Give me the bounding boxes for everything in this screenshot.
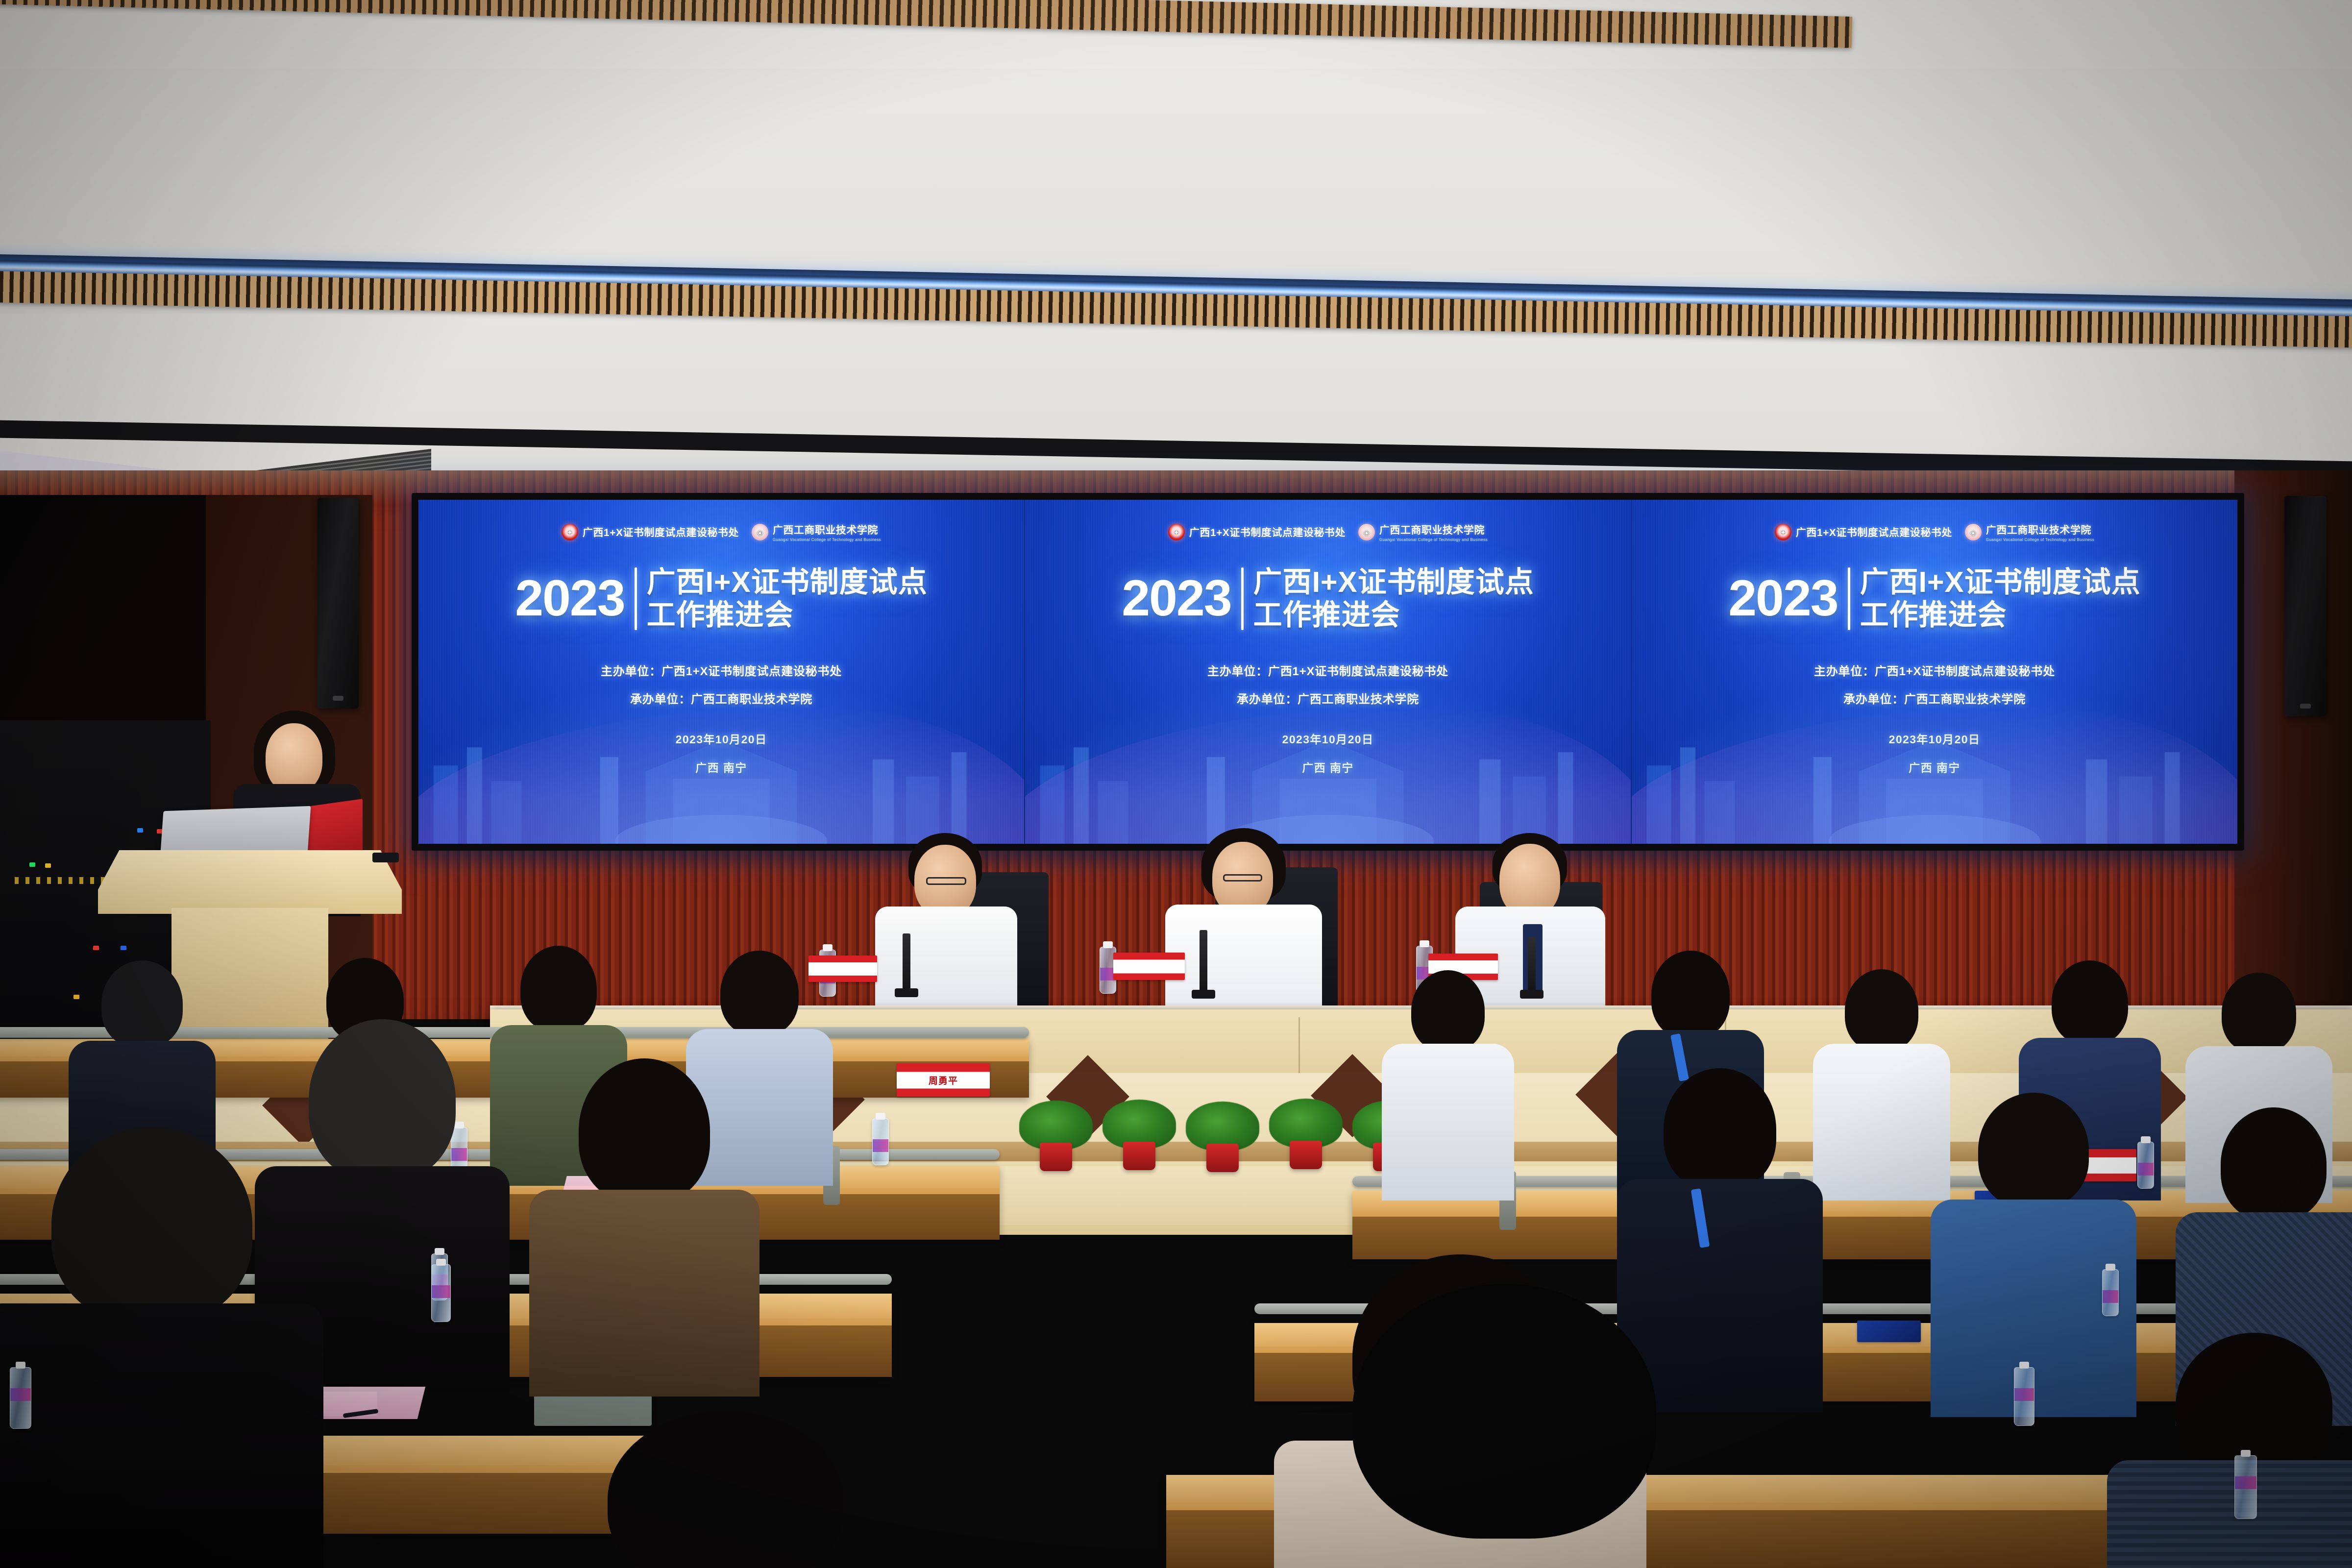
secretariat-emblem-icon: ✦ bbox=[1775, 524, 1791, 540]
panel-year: 2023 bbox=[1728, 576, 1837, 621]
panel-title-line2: 工作推进会 bbox=[1253, 601, 1534, 630]
wall-speaker-left bbox=[318, 498, 359, 709]
logo-group-college: ◈ 广西工商职业技术学院Guangxi Vocational College o… bbox=[1358, 522, 1488, 542]
panel-title-block: 广西I+X证书制度试点 工作推进会 bbox=[647, 568, 928, 630]
attendee-head bbox=[2221, 1107, 2327, 1221]
audience-member bbox=[1382, 970, 1514, 1200]
attendee-head bbox=[51, 1127, 252, 1323]
audience-water-bottle bbox=[2014, 1367, 2034, 1426]
logo-primary-text: 广西1+X证书制度试点建设秘书处 bbox=[583, 525, 739, 539]
panel-title-line1: 广西I+X证书制度试点 bbox=[1253, 568, 1534, 597]
panel-headline: 2023 广西I+X证书制度试点 工作推进会 bbox=[418, 567, 1024, 630]
panel-title-line1: 广西I+X证书制度试点 bbox=[647, 568, 928, 597]
college-emblem-icon: ◈ bbox=[752, 524, 768, 540]
head-table-name-card bbox=[1113, 953, 1185, 980]
stage-potted-plant bbox=[1186, 1108, 1259, 1172]
logo-group-secretariat: ✦ 广西1+X证书制度试点建设秘书处 bbox=[562, 524, 739, 540]
panel-location: 广西 南宁 bbox=[418, 759, 1024, 775]
attendee-head bbox=[1845, 969, 1918, 1052]
conference-hall-photo: ✦ 广西1+X证书制度试点建设秘书处 ◈ 广西工商职业技术学院Guangxi V… bbox=[0, 0, 2352, 1568]
panel-title-line1: 广西I+X证书制度试点 bbox=[1860, 568, 2141, 597]
audience-member bbox=[1813, 969, 1950, 1200]
logo-secondary-en: Guangxi Vocational College of Technology… bbox=[1379, 538, 1488, 542]
panel-location: 广西 南宁 bbox=[1632, 759, 2237, 775]
attendee-head bbox=[1651, 951, 1730, 1039]
college-emblem-icon: ◈ bbox=[1965, 524, 1982, 540]
headline-divider bbox=[1241, 567, 1244, 630]
secretariat-emblem-icon: ✦ bbox=[1168, 524, 1185, 540]
logo-primary-text: 广西1+X证书制度试点建设秘书处 bbox=[1796, 525, 1952, 539]
panel-date: 2023年10月20日 bbox=[418, 730, 1024, 747]
secretariat-emblem-icon: ✦ bbox=[562, 524, 578, 540]
speaker-cone-icon bbox=[333, 696, 343, 701]
stage-potted-plant bbox=[1019, 1107, 1093, 1171]
panelist-microphone-right bbox=[1528, 937, 1536, 999]
audience-water-bottle bbox=[2102, 1269, 2119, 1316]
logo-primary-text: 广西1+X证书制度试点建设秘书处 bbox=[1189, 525, 1346, 539]
panel-headline: 2023 广西I+X证书制度试点 工作推进会 bbox=[1025, 567, 1631, 630]
attendee-body bbox=[1382, 1044, 1514, 1200]
headline-divider bbox=[635, 567, 637, 630]
college-emblem-icon: ◈ bbox=[1358, 524, 1375, 540]
audience-blue-folder bbox=[1857, 1321, 1921, 1342]
logo-group-college: ◈ 广西工商职业技术学院Guangxi Vocational College o… bbox=[1965, 522, 2094, 542]
attendee-head bbox=[520, 946, 597, 1032]
led-panel-3: ✦ 广西1+X证书制度试点建设秘书处 ◈ 广西工商职业技术学院Guangxi V… bbox=[1632, 500, 2237, 844]
panel-host-label: 主办单位：广西1+X证书制度试点建设秘书处 bbox=[1025, 661, 1631, 679]
audience-water-bottle bbox=[2234, 1455, 2257, 1519]
wall-speaker-right bbox=[2284, 496, 2327, 716]
audience-water-bottle bbox=[431, 1264, 451, 1322]
attendee-body bbox=[2107, 1460, 2352, 1568]
panelist-microphone-left bbox=[903, 933, 910, 997]
audience-water-bottle bbox=[872, 1118, 889, 1165]
panel-meta-block: 主办单位：广西1+X证书制度试点建设秘书处 承办单位：广西工商职业技术学院 20… bbox=[1025, 661, 1631, 775]
panel-meta-block: 主办单位：广西1+X证书制度试点建设秘书处 承办单位：广西工商职业技术学院 20… bbox=[418, 661, 1024, 775]
led-screen-surface: ✦ 广西1+X证书制度试点建设秘书处 ◈ 广西工商职业技术学院Guangxi V… bbox=[418, 500, 2237, 844]
attendee-head bbox=[720, 951, 799, 1036]
panel-organizer-label: 承办单位：广西工商职业技术学院 bbox=[1025, 689, 1631, 707]
logo-group-secretariat: ✦ 广西1+X证书制度试点建设秘书处 bbox=[1775, 524, 1952, 540]
panel-title-line2: 工作推进会 bbox=[1860, 601, 2141, 630]
panel-year: 2023 bbox=[515, 576, 624, 621]
panel-title-block: 广西I+X证书制度试点 工作推进会 bbox=[1860, 568, 2141, 630]
attendee-head bbox=[309, 1019, 456, 1181]
panel-logo-row: ✦ 广西1+X证书制度试点建设秘书处 ◈ 广西工商职业技术学院Guangxi V… bbox=[418, 522, 1024, 542]
panel-organizer-label: 承办单位：广西工商职业技术学院 bbox=[1632, 689, 2237, 707]
audience-member bbox=[0, 1127, 323, 1568]
speaker-head bbox=[266, 723, 322, 793]
attendee-head bbox=[1664, 1068, 1776, 1191]
attendee-head bbox=[1978, 1093, 2089, 1208]
logo-secondary-en: Guangxi Vocational College of Technology… bbox=[1986, 538, 2094, 542]
logo-secondary-en: Guangxi Vocational College of Technology… bbox=[773, 538, 881, 542]
speaker-cone-icon bbox=[2300, 704, 2311, 709]
panelist-glasses-icon bbox=[1223, 874, 1262, 882]
panelist-microphone-center bbox=[1200, 930, 1207, 999]
panel-location: 广西 南宁 bbox=[1025, 759, 1631, 775]
attendee-head bbox=[101, 960, 183, 1048]
logo-secondary-text: 广西工商职业技术学院Guangxi Vocational College of … bbox=[1379, 522, 1488, 542]
attendee-body bbox=[0, 1303, 323, 1568]
panel-organizer-label: 承办单位：广西工商职业技术学院 bbox=[418, 689, 1024, 707]
panel-host-label: 主办单位：广西1+X证书制度试点建设秘书处 bbox=[1632, 661, 2237, 679]
stage-potted-plant bbox=[1269, 1105, 1343, 1169]
led-panel-2: ✦ 广西1+X证书制度试点建设秘书处 ◈ 广西工商职业技术学院Guangxi V… bbox=[1025, 500, 1632, 844]
av-indicator-led bbox=[29, 862, 35, 867]
attendee-head bbox=[1352, 1284, 1656, 1539]
panel-title-line2: 工作推进会 bbox=[647, 601, 928, 630]
audience-member bbox=[2107, 1333, 2352, 1568]
panel-title-block: 广西I+X证书制度试点 工作推进会 bbox=[1253, 568, 1534, 630]
av-indicator-led bbox=[137, 828, 143, 833]
panel-meta-block: 主办单位：广西1+X证书制度试点建设秘书处 承办单位：广西工商职业技术学院 20… bbox=[1632, 661, 2237, 775]
panelist-center bbox=[1161, 828, 1328, 1029]
audience-water-bottle bbox=[2137, 1142, 2154, 1189]
logo-secondary-text: 广西工商职业技术学院Guangxi Vocational College of … bbox=[1986, 522, 2094, 542]
attendee-head bbox=[608, 1411, 843, 1568]
attendee-head bbox=[2222, 973, 2296, 1053]
panel-logo-row: ✦ 广西1+X证书制度试点建设秘书处 ◈ 广西工商职业技术学院Guangxi V… bbox=[1025, 522, 1631, 542]
av-indicator-led bbox=[45, 863, 51, 868]
stage-potted-plant bbox=[1102, 1106, 1176, 1170]
panel-headline: 2023 广西I+X证书制度试点 工作推进会 bbox=[1632, 567, 2237, 630]
panel-year: 2023 bbox=[1122, 576, 1231, 621]
podium-microphone bbox=[372, 853, 399, 862]
logo-group-college: ◈ 广西工商职业技术学院Guangxi Vocational College o… bbox=[752, 522, 881, 542]
panel-date: 2023年10月20日 bbox=[1632, 730, 2237, 747]
logo-secondary-text: 广西工商职业技术学院Guangxi Vocational College of … bbox=[773, 522, 881, 542]
attendee-body bbox=[529, 1190, 759, 1396]
audience-member bbox=[529, 1058, 759, 1396]
audience-member-foreground bbox=[529, 1411, 921, 1568]
headline-divider bbox=[1848, 567, 1850, 630]
panel-host-label: 主办单位：广西1+X证书制度试点建设秘书处 bbox=[418, 661, 1024, 679]
attendee-head bbox=[579, 1058, 710, 1203]
attendee-body bbox=[1813, 1044, 1950, 1200]
audience-member-foreground bbox=[1245, 1284, 1764, 1568]
audience-name-card-right: 周勇平 bbox=[897, 1063, 990, 1097]
audience-water-bottle bbox=[10, 1367, 31, 1429]
led-video-wall[interactable]: ✦ 广西1+X证书制度试点建设秘书处 ◈ 广西工商职业技术学院Guangxi V… bbox=[412, 493, 2244, 851]
logo-group-secretariat: ✦ 广西1+X证书制度试点建设秘书处 bbox=[1168, 524, 1346, 540]
panelist-glasses-icon bbox=[926, 877, 966, 885]
panel-date: 2023年10月20日 bbox=[1025, 730, 1631, 747]
attendee-head bbox=[2052, 960, 2128, 1045]
panelist-left bbox=[867, 833, 1024, 1029]
name-card-text: 周勇平 bbox=[929, 1074, 958, 1087]
attendee-head bbox=[1411, 970, 1485, 1052]
podium-top bbox=[98, 850, 402, 914]
panel-logo-row: ✦ 广西1+X证书制度试点建设秘书处 ◈ 广西工商职业技术学院Guangxi V… bbox=[1632, 522, 2237, 542]
led-panel-1: ✦ 广西1+X证书制度试点建设秘书处 ◈ 广西工商职业技术学院Guangxi V… bbox=[418, 500, 1025, 844]
